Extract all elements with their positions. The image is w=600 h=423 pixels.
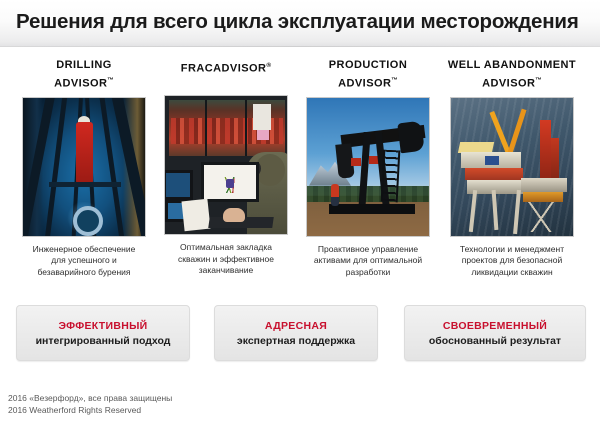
offshore-platform-photo [450, 97, 574, 237]
copyright-line-ru: 2016 «Везерфорд», все права защищены [8, 392, 408, 404]
column-title: FRACADVISOR® [154, 58, 298, 90]
column-well-abandonment-advisor[interactable]: WELL ABANDONMENT ADVISOR™ Те [440, 58, 584, 278]
value-box-effective[interactable]: ЭФФЕКТИВНЫЙ интегрированный подход [16, 305, 190, 361]
value-box-targeted[interactable]: АДРЕСНАЯ экспертная поддержка [214, 305, 378, 361]
registered-symbol: ® [266, 62, 271, 69]
caption-line1: Проактивное управление [318, 244, 418, 254]
frac-control-room-photo [164, 95, 288, 235]
value-box-subline: интегрированный подход [36, 335, 171, 347]
column-caption: Технологии и менеджмент проектов для без… [444, 244, 580, 279]
caption-line3: ликвидации скважин [471, 267, 552, 277]
column-title-line2: ADVISOR [482, 78, 535, 90]
value-box-headline: СВОЕВРЕМЕННЫЙ [443, 320, 547, 332]
column-caption: Инженерное обеспечение для успешного и б… [16, 244, 152, 279]
value-box-timely[interactable]: СВОЕВРЕМЕННЫЙ обоснованный результат [404, 305, 586, 361]
copyright-line-en: 2016 Weatherford Rights Reserved [8, 404, 408, 416]
caption-line1: Оптимальная закладка [180, 242, 272, 252]
pumpjack-production-photo [306, 97, 430, 237]
caption-line1: Технологии и менеджмент [460, 244, 564, 254]
caption-line1: Инженерное обеспечение [33, 244, 136, 254]
column-title-line1: DRILLING [56, 59, 112, 71]
caption-line3: заканчивание [199, 265, 253, 275]
column-title-line1: PRODUCTION [329, 59, 407, 71]
column-title: DRILLING ADVISOR™ [12, 58, 156, 92]
value-box-headline: ЭФФЕКТИВНЫЙ [58, 320, 147, 332]
column-caption: Оптимальная закладка скважин и эффективн… [158, 242, 294, 277]
column-drilling-advisor[interactable]: DRILLING ADVISOR™ Инженерное обеспечение… [12, 58, 156, 278]
trademark-symbol: ™ [107, 77, 114, 84]
caption-line3: разработки [346, 267, 390, 277]
value-proposition-bar: ЭФФЕКТИВНЫЙ интегрированный подход АДРЕС… [0, 305, 600, 367]
page-title: Решения для всего цикла эксплуатации мес… [16, 9, 591, 35]
caption-line2: активами для оптимальной [314, 255, 422, 265]
trademark-symbol: ™ [535, 77, 542, 84]
caption-line2: скважин и эффективное [178, 254, 274, 264]
value-box-subline: экспертная поддержка [237, 335, 355, 347]
presentation-slide: Решения для всего цикла эксплуатации мес… [0, 0, 600, 423]
drilling-rig-derrick-photo [22, 97, 146, 237]
column-title-line2: ADVISOR [338, 78, 391, 90]
caption-line3: безаварийного бурения [37, 267, 130, 277]
value-box-headline: АДРЕСНАЯ [265, 320, 327, 332]
caption-line2: проектов для безопасной [462, 255, 562, 265]
column-title-line2: ADVISOR [54, 78, 107, 90]
copyright-footer: 2016 «Везерфорд», все права защищены 201… [8, 392, 408, 416]
column-title-line1: FRACADVISOR [181, 63, 267, 75]
solutions-columns: DRILLING ADVISOR™ Инженерное обеспечение… [0, 58, 600, 298]
column-title: PRODUCTION ADVISOR™ [296, 58, 440, 92]
column-production-advisor[interactable]: PRODUCTION ADVISOR™ [296, 58, 440, 278]
column-fracadvisor[interactable]: FRACADVISOR® Оптимальная закладка скваж [154, 58, 298, 277]
column-title: WELL ABANDONMENT ADVISOR™ [440, 58, 584, 92]
value-box-subline: обоснованный результат [429, 335, 561, 347]
column-title-line1: WELL ABANDONMENT [448, 59, 576, 71]
trademark-symbol: ™ [391, 77, 398, 84]
column-caption: Проактивное управление активами для опти… [300, 244, 436, 279]
caption-line2: для успешного и [51, 255, 117, 265]
